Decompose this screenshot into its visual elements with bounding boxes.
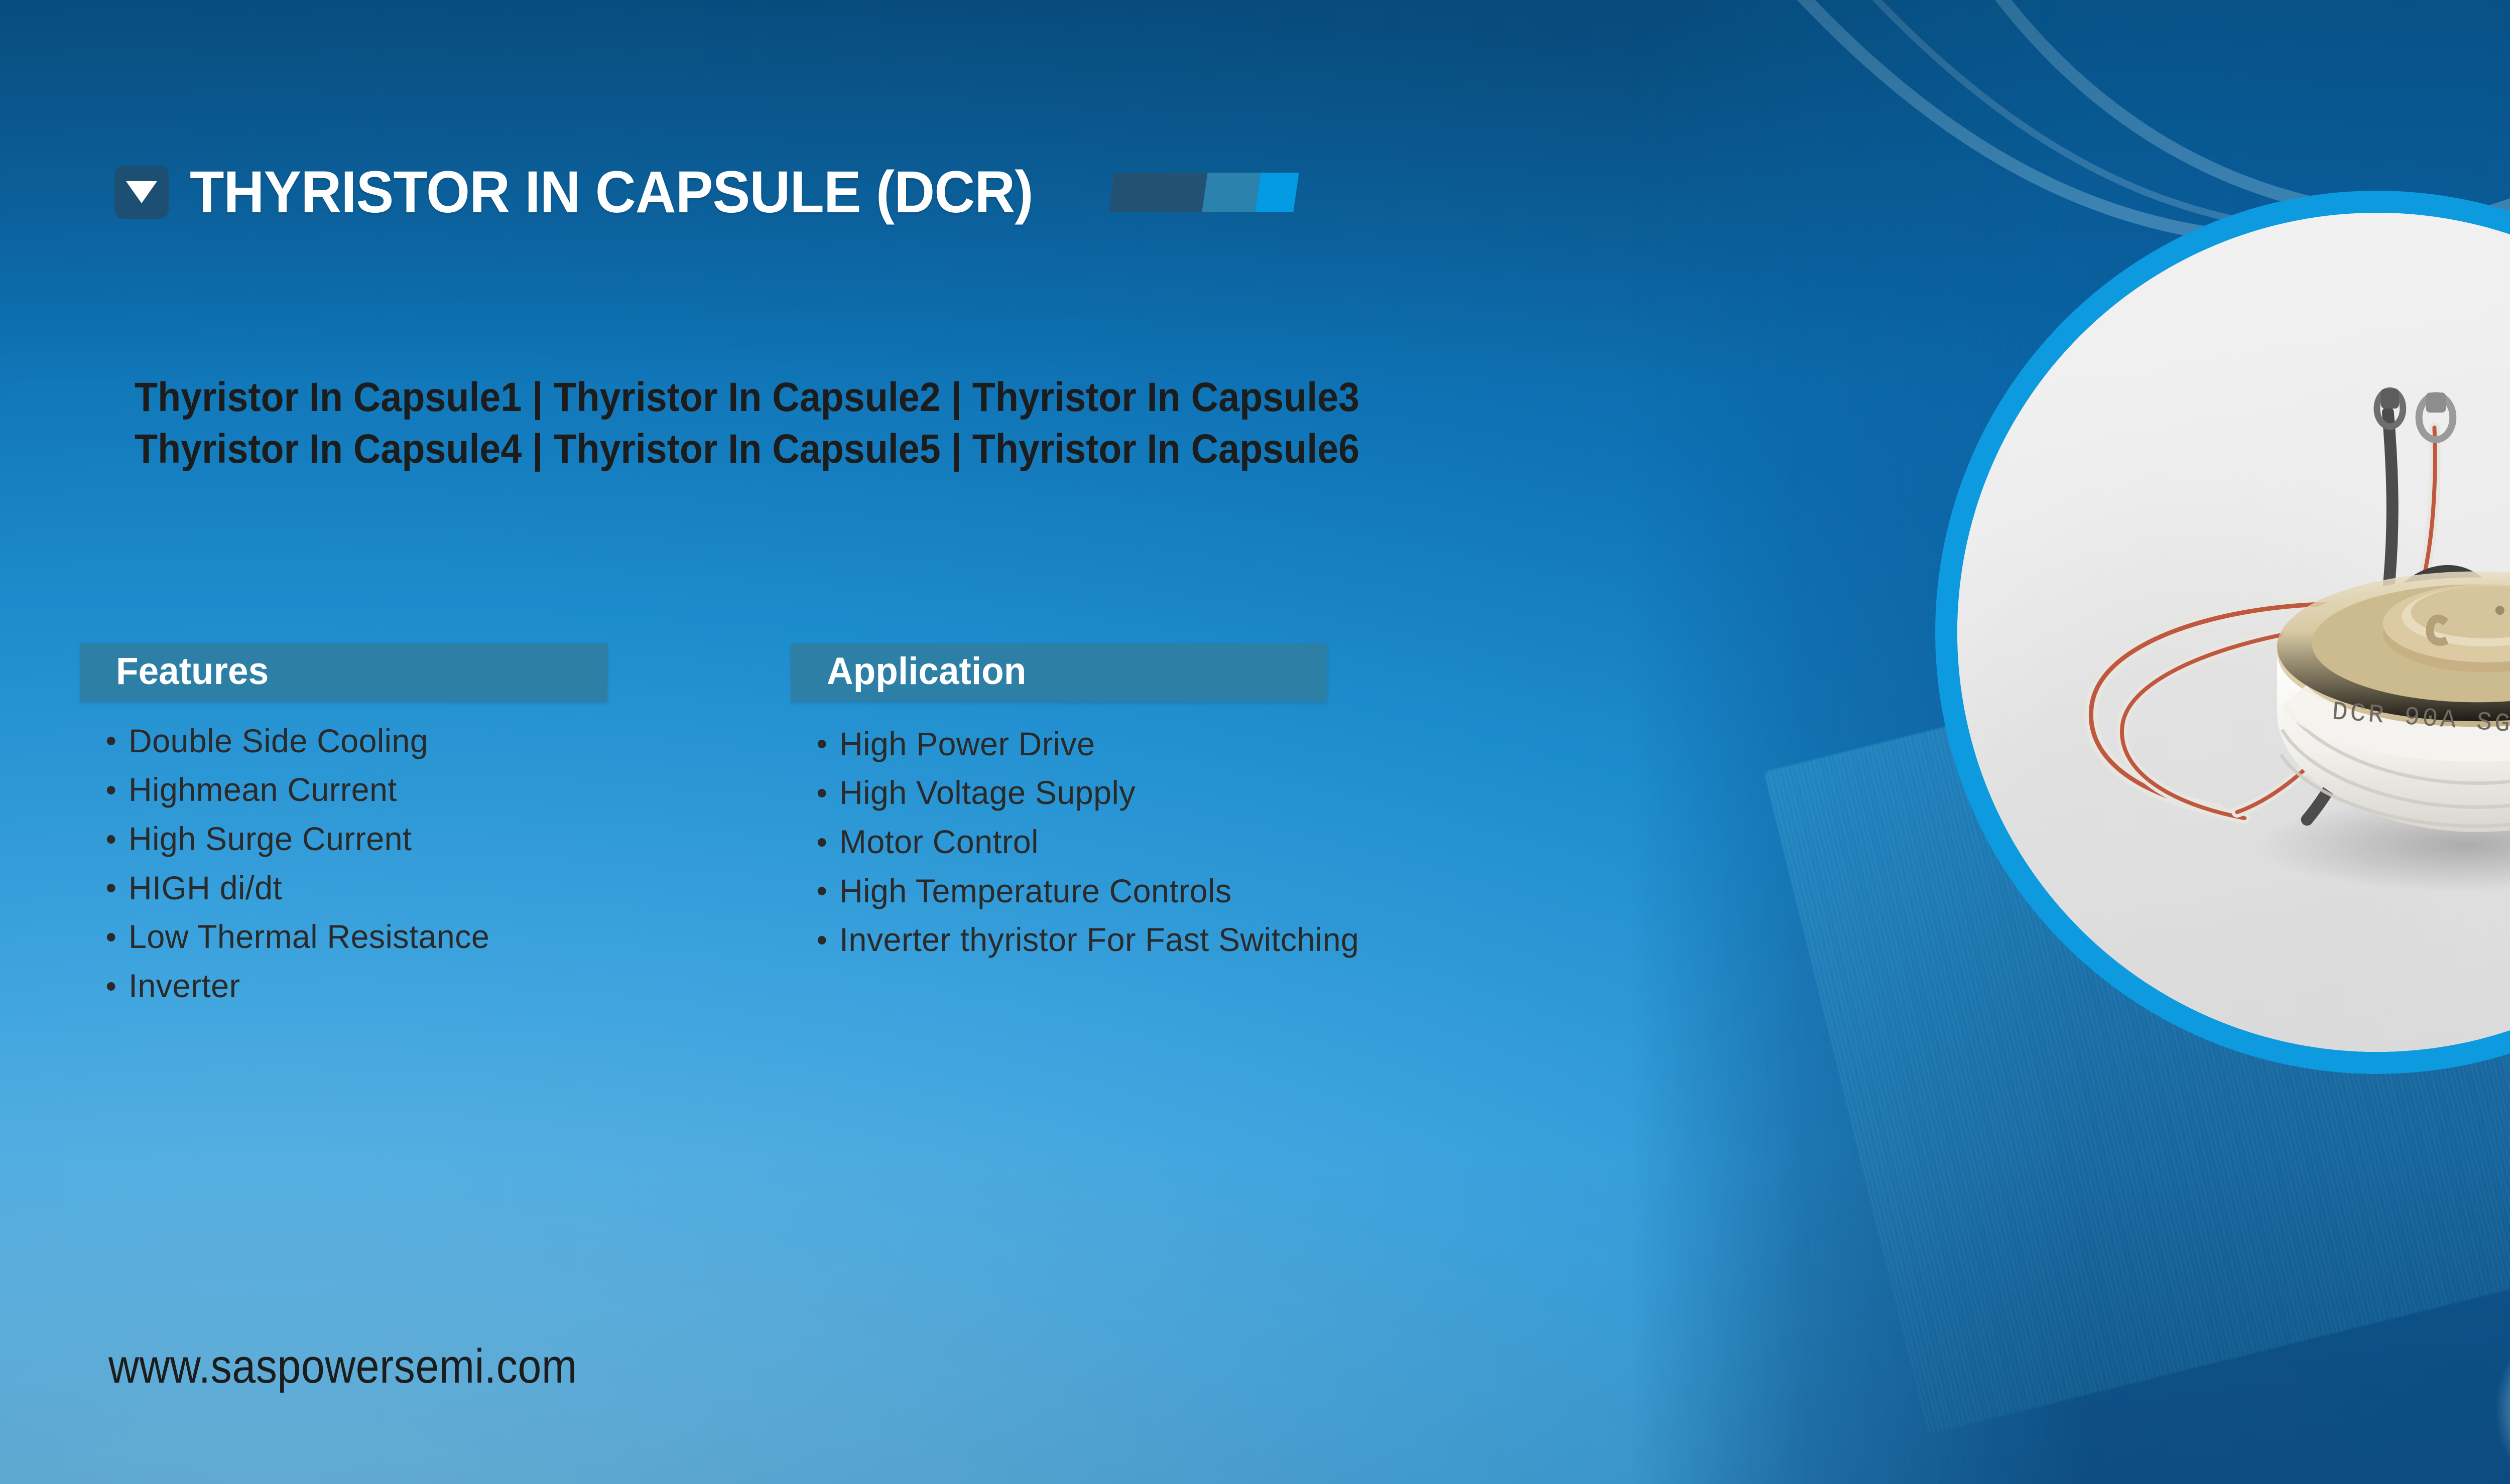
main-product-photo: DCR 90A SG 1919 — [1957, 213, 2510, 1052]
features-heading: Features — [80, 643, 607, 702]
banner-header: THYRISTOR IN CAPSULE (DCR) — [114, 123, 1296, 261]
application-heading: Application — [791, 643, 1327, 702]
accent-bar-1 — [1109, 173, 1208, 212]
list-item: Motor Control — [839, 818, 1965, 867]
list-item: Inverter thyristor For Fast Switching — [839, 915, 1965, 965]
list-item: High Voltage Supply — [839, 768, 1965, 818]
disc-thyristor-illustration: DCR 90A SG 1919 — [1957, 213, 2510, 1052]
triangle-down-icon — [114, 166, 169, 219]
accent-bar-2 — [1202, 173, 1261, 212]
product-variant-line-2: Thyristor In Capsule4 | Thyristor In Cap… — [135, 423, 1359, 475]
application-column: Application High Power Drive High Voltag… — [783, 643, 1988, 1011]
features-list: Double Side Cooling Highmean Current Hig… — [80, 717, 783, 1011]
product-variant-list: Thyristor In Capsule1 | Thyristor In Cap… — [135, 371, 1359, 475]
main-product-circle: DCR 90A SG 1919 — [1935, 191, 2510, 1074]
website-url[interactable]: www.saspowersemi.com — [108, 1339, 577, 1394]
list-item: Inverter — [129, 962, 770, 1011]
product-banner: DCR 90A SG 1919 — [0, 0, 2510, 1484]
list-item: Low Thermal Resistance — [129, 912, 770, 962]
list-item: Highmean Current — [129, 765, 770, 815]
accent-bar-3 — [1256, 173, 1299, 212]
list-item: High Surge Current — [129, 815, 770, 864]
application-list: High Power Drive High Voltage Supply Mot… — [783, 720, 1988, 965]
page-title: THYRISTOR IN CAPSULE (DCR) — [190, 163, 1033, 222]
content-columns: Features Double Side Cooling Highmean Cu… — [80, 643, 1988, 1011]
accent-bars — [1109, 173, 1299, 212]
features-column: Features Double Side Cooling Highmean Cu… — [80, 643, 783, 1011]
triangle-glyph — [126, 181, 157, 203]
list-item: HIGH di/dt — [129, 864, 770, 913]
list-item: High Power Drive — [839, 720, 1965, 769]
list-item: Double Side Cooling — [129, 717, 770, 766]
list-item: High Temperature Controls — [839, 867, 1965, 916]
product-variant-line-1: Thyristor In Capsule1 | Thyristor In Cap… — [135, 371, 1359, 423]
